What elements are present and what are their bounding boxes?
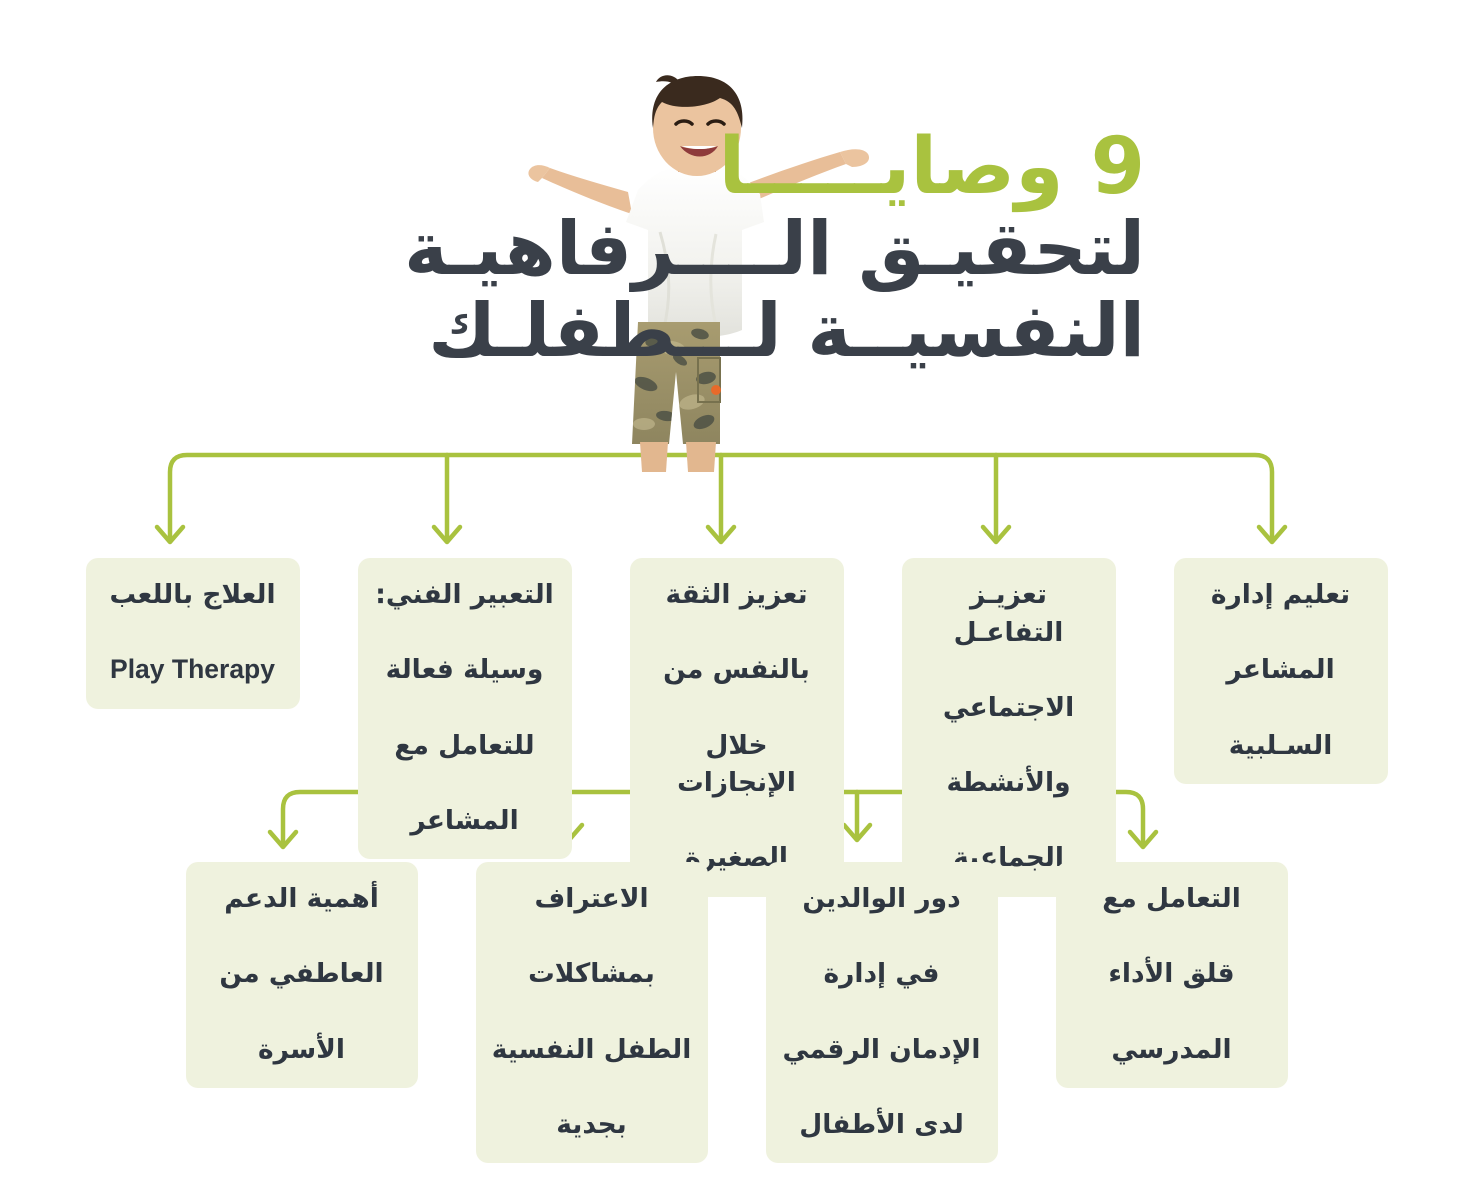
card-art-expression[interactable]: التعبير الفني: وسيلة فعالة للتعامل مع ال… [358, 558, 572, 859]
leg-right [686, 442, 716, 472]
right-hand [840, 149, 869, 167]
camo-shorts [632, 322, 721, 444]
left-arm [542, 168, 632, 214]
tshirt-fold [660, 232, 669, 328]
eye-left [676, 121, 692, 124]
card-1-line-1: العلاج باللعب [100, 576, 286, 614]
card-6-line-1: أهمية الدعم [200, 880, 404, 918]
shorts-pocket [698, 358, 720, 402]
card-3-line-3: خلال الإنجازات [644, 727, 830, 802]
card-negative-emotions[interactable]: تعليم إدارة المشاعر السـلبية [1174, 558, 1388, 784]
trunk-row1 [170, 455, 1272, 540]
card-7-line-3: الطفل النفسية [490, 1031, 694, 1069]
card-8-line-2: في إدارة [780, 955, 984, 993]
card-2-line-3: للتعامل مع [372, 727, 558, 765]
card-6-line-3: الأسرة [200, 1031, 404, 1069]
card-9-line-3: المدرسي [1070, 1031, 1274, 1069]
card-9-line-2: قلق الأداء [1070, 955, 1274, 993]
title-line-3: النفسيــة لـــطفلـك [0, 294, 1145, 368]
card-5-line-2: المشاعر [1188, 651, 1374, 689]
card-school-performance-anxiety[interactable]: التعامل مع قلق الأداء المدرسي [1056, 862, 1288, 1088]
left-hand [528, 165, 550, 182]
infographic-canvas: 9 وصايـــــا لتحقيـق الــــرفاهيـة النفس… [0, 0, 1473, 1200]
card-1-line-2: Play Therapy [100, 651, 286, 689]
card-acknowledge-problems[interactable]: الاعتراف بمشاكلات الطفل النفسية بجدية [476, 862, 708, 1163]
arrowhead-5 [1259, 527, 1285, 542]
arrowhead-3 [708, 527, 734, 542]
right-arm [730, 152, 846, 210]
card-9-line-1: التعامل مع [1070, 880, 1274, 918]
tshirt [626, 166, 764, 338]
card-3-line-1: تعزيز الثقة [644, 576, 830, 614]
card-4-line-2: الاجتماعي [916, 689, 1102, 727]
card-self-confidence[interactable]: تعزيز الثقة بالنفس من خلال الإنجازات الص… [630, 558, 844, 897]
card-7-line-4: بجدية [490, 1106, 694, 1144]
card-5-line-3: السـلبية [1188, 727, 1374, 765]
arrowhead-4 [983, 527, 1009, 542]
card-2-line-2: وسيلة فعالة [372, 651, 558, 689]
card-play-therapy[interactable]: العلاج باللعب Play Therapy [86, 558, 300, 709]
card-6-line-2: العاطفي من [200, 955, 404, 993]
card-7-line-1: الاعتراف [490, 880, 694, 918]
poster-title: 9 وصايـــــا لتحقيـق الــــرفاهيـة النفس… [0, 128, 1473, 368]
title-line-1: 9 وصايـــــا [0, 128, 1145, 206]
hair [652, 76, 742, 128]
arrowhead-1 [157, 527, 183, 542]
hair-tuft [656, 75, 680, 88]
card-8-line-1: دور الوالدين [780, 880, 984, 918]
card-2-line-1: التعبير الفني: [372, 576, 558, 614]
jumping-child-photo [520, 72, 910, 472]
title-line-2: لتحقيـق الــــرفاهيـة [0, 212, 1145, 286]
card-3-line-2: بالنفس من [644, 651, 830, 689]
shorts-button [711, 385, 721, 395]
tshirt-fold-2 [711, 234, 716, 326]
card-7-line-2: بمشاكلات [490, 955, 694, 993]
card-8-line-4: لدى الأطفال [780, 1106, 984, 1144]
arrowhead-2 [434, 527, 460, 542]
card-social-interaction[interactable]: تعزيـز التفاعـل الاجتماعي والأنشطة الجما… [902, 558, 1116, 897]
leg-left [640, 442, 668, 472]
neck [678, 150, 716, 172]
card-4-line-3: والأنشطة [916, 764, 1102, 802]
head [653, 80, 741, 176]
cards-row-top: العلاج باللعب Play Therapy التعبير الفني… [0, 558, 1473, 897]
cards-row-bottom: أهمية الدعم العاطفي من الأسرة الاعتراف ب… [0, 862, 1473, 1163]
card-5-line-1: تعليم إدارة [1188, 576, 1374, 614]
card-4-line-1: تعزيـز التفاعـل [916, 576, 1102, 651]
card-8-line-3: الإدمان الرقمي [780, 1031, 984, 1069]
teeth [682, 146, 716, 149]
eye-right [708, 121, 724, 124]
card-digital-addiction[interactable]: دور الوالدين في إدارة الإدمان الرقمي لدى… [766, 862, 998, 1163]
card-family-emotional-support[interactable]: أهمية الدعم العاطفي من الأسرة [186, 862, 418, 1088]
mouth [680, 146, 718, 157]
card-2-line-4: المشاعر [372, 802, 558, 840]
